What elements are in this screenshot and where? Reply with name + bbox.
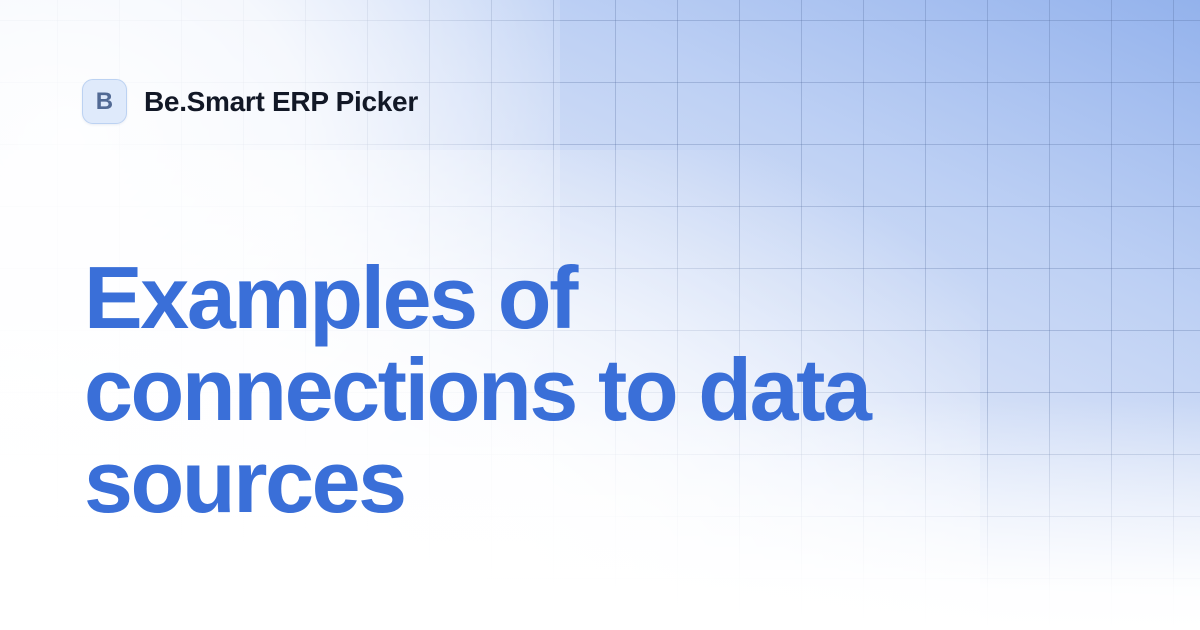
og-card: B Be.Smart ERP Picker Examples of connec…	[0, 0, 1200, 630]
brand-name: Be.Smart ERP Picker	[144, 88, 418, 116]
brand-lockup: B Be.Smart ERP Picker	[82, 79, 418, 124]
card-content: B Be.Smart ERP Picker Examples of connec…	[0, 0, 1200, 630]
brand-badge-letter: B	[96, 90, 114, 114]
page-title: Examples of connections to data sources	[84, 252, 1084, 528]
brand-letter-badge-icon: B	[82, 79, 127, 124]
